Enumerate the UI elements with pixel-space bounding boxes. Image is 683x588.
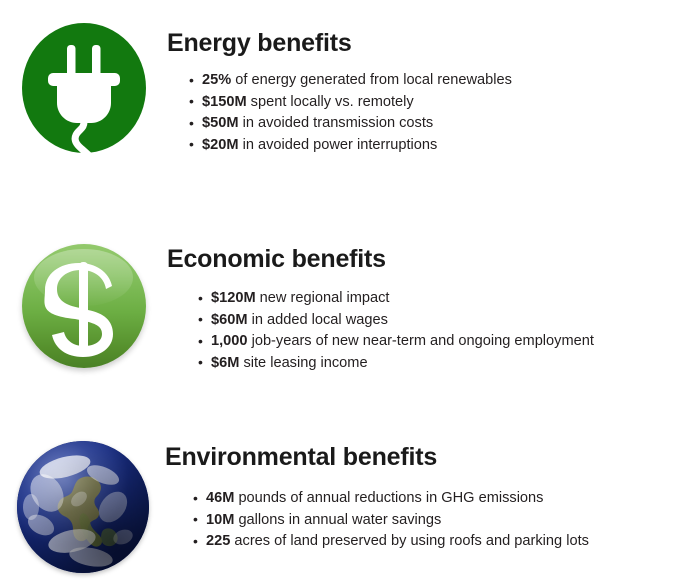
bullet-text: pounds of annual reductions in GHG emiss… — [234, 490, 543, 506]
bullet-text: in avoided power interruptions — [239, 137, 438, 153]
bullet-text: gallons in annual water savings — [234, 512, 441, 528]
bullet-value: 46M — [206, 490, 234, 506]
bullet-text: spent locally vs. remotely — [247, 94, 414, 110]
list-item: 46M pounds of annual reductions in GHG e… — [192, 488, 683, 510]
dollar-sign-icon — [22, 244, 146, 368]
bullet-text: acres of land preserved by using roofs a… — [230, 533, 589, 549]
list-item: 225 acres of land preserved by using roo… — [192, 531, 683, 553]
bullet-text: site leasing income — [239, 355, 367, 371]
section-heading-energy: Energy benefits — [167, 30, 683, 56]
bullet-value: $60M — [211, 312, 248, 328]
earth-globe-graphic — [17, 441, 149, 573]
energy-bullet-list: 25% of energy generated from local renew… — [188, 70, 683, 156]
benefit-section-environmental: Environmental benefits 46M pounds of ann… — [0, 432, 683, 582]
economic-icon-slot — [0, 226, 167, 386]
bullet-value: $150M — [202, 94, 247, 110]
bullet-value: 225 — [206, 533, 230, 549]
benefit-section-economic: Economic benefits $120M new regional imp… — [0, 226, 683, 386]
dollar-sign-glyph — [22, 244, 146, 368]
list-item: $150M spent locally vs. remotely — [188, 92, 683, 114]
list-item: 25% of energy generated from local renew… — [188, 70, 683, 92]
economic-bullet-list: $120M new regional impact $60M in added … — [197, 288, 683, 374]
bullet-value: 10M — [206, 512, 234, 528]
energy-icon-slot — [0, 8, 167, 168]
section-heading-economic: Economic benefits — [167, 246, 683, 272]
list-item: $60M in added local wages — [197, 310, 683, 332]
bullet-text: in added local wages — [248, 312, 388, 328]
benefits-infographic: Energy benefits 25% of energy generated … — [0, 0, 683, 588]
environmental-content: Environmental benefits 46M pounds of ann… — [165, 432, 683, 553]
benefit-section-energy: Energy benefits 25% of energy generated … — [0, 8, 683, 168]
power-plug-icon — [22, 23, 146, 153]
bullet-text: new regional impact — [256, 290, 390, 306]
bullet-value: 1,000 — [211, 333, 248, 349]
power-plug-glyph — [22, 23, 146, 153]
bullet-text: in avoided transmission costs — [239, 115, 434, 131]
list-item: $50M in avoided transmission costs — [188, 113, 683, 135]
bullet-text: of energy generated from local renewable… — [231, 72, 512, 88]
bullet-value: 25% — [202, 72, 231, 88]
list-item: $120M new regional impact — [197, 288, 683, 310]
section-heading-environmental: Environmental benefits — [165, 444, 683, 470]
environmental-bullet-list: 46M pounds of annual reductions in GHG e… — [192, 488, 683, 553]
environmental-icon-slot — [0, 432, 165, 582]
list-item: $6M site leasing income — [197, 353, 683, 375]
list-item: 10M gallons in annual water savings — [192, 510, 683, 532]
bullet-value: $120M — [211, 290, 256, 306]
bullet-value: $50M — [202, 115, 239, 131]
bullet-text: job-years of new near-term and ongoing e… — [248, 333, 594, 349]
earth-globe-icon — [17, 441, 149, 573]
list-item: $20M in avoided power interruptions — [188, 135, 683, 157]
bullet-value: $20M — [202, 137, 239, 153]
energy-content: Energy benefits 25% of energy generated … — [167, 8, 683, 156]
bullet-value: $6M — [211, 355, 239, 371]
list-item: 1,000 job-years of new near-term and ong… — [197, 331, 683, 353]
economic-content: Economic benefits $120M new regional imp… — [167, 226, 683, 374]
